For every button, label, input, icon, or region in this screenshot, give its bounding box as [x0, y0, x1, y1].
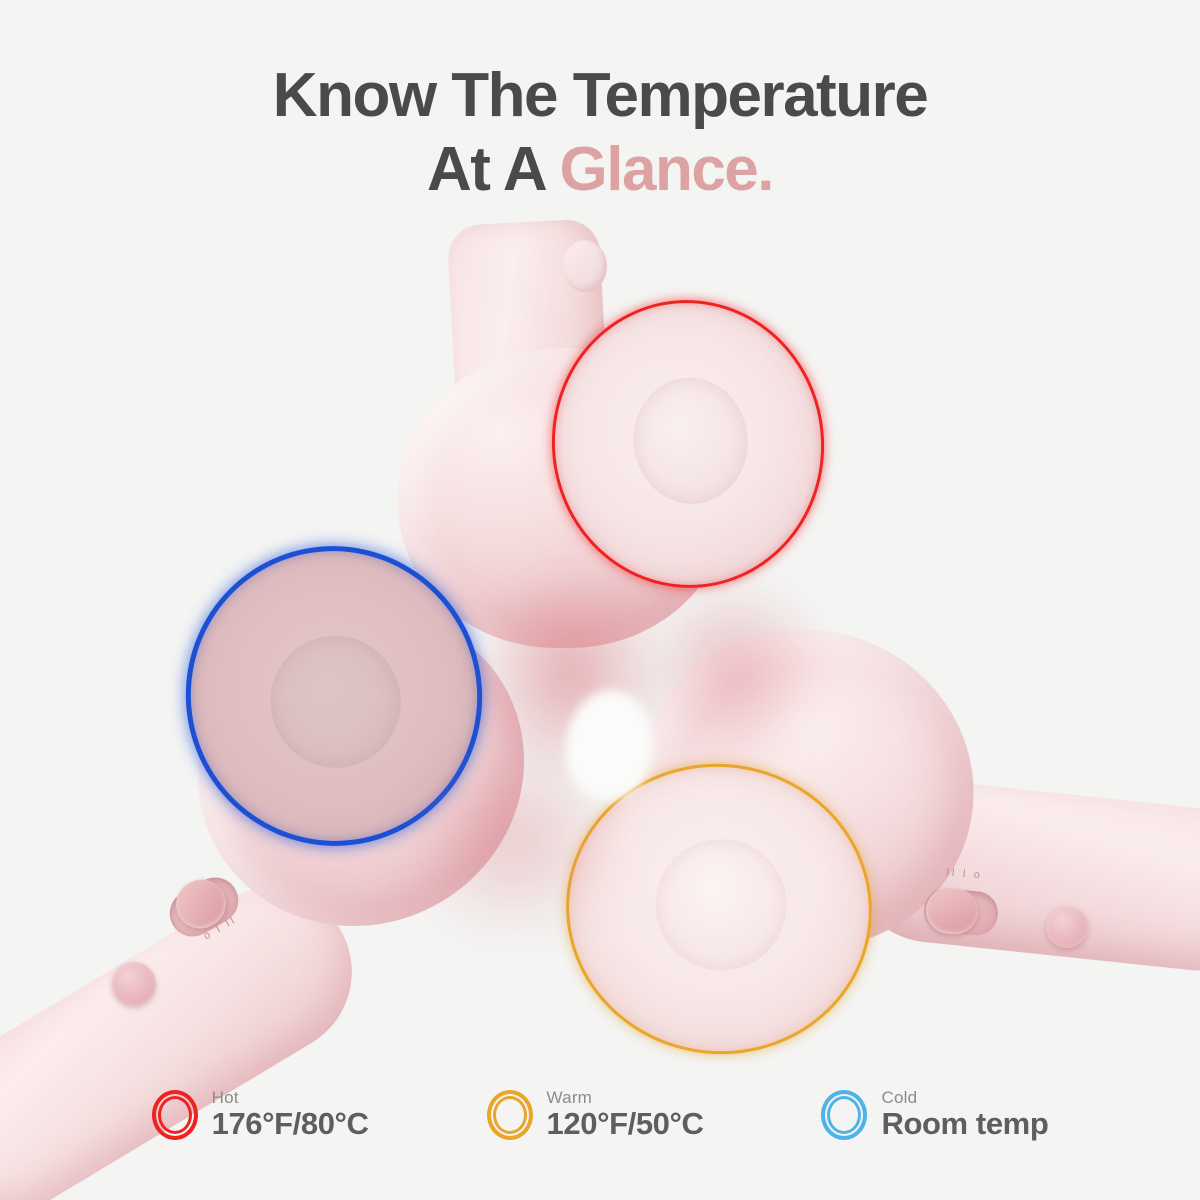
legend-value-warm: 120°F/50°C — [547, 1107, 704, 1142]
hair-dryer-unit-warm: II I o — [0, 0, 1200, 1200]
legend-label-warm: Warm — [547, 1088, 704, 1108]
warm-unit-cool-shot-button[interactable] — [1046, 906, 1088, 948]
legend-value-cold: Room temp — [881, 1107, 1048, 1142]
legend-text-cold: Cold Room temp — [881, 1088, 1048, 1142]
legend-text-hot: Hot 176°F/80°C — [212, 1088, 369, 1142]
warm-ring-icon — [487, 1090, 533, 1140]
legend-label-hot: Hot — [212, 1088, 369, 1108]
product-photo: o I II II I o — [0, 0, 1200, 1075]
legend-value-hot: 176°F/80°C — [212, 1107, 369, 1142]
legend-text-warm: Warm 120°F/50°C — [547, 1088, 704, 1142]
legend-item-warm: Warm 120°F/50°C — [487, 1088, 704, 1142]
cold-ring-icon — [821, 1090, 867, 1140]
legend-label-cold: Cold — [881, 1088, 1048, 1108]
legend-item-cold: Cold Room temp — [821, 1088, 1048, 1142]
legend-item-hot: Hot 176°F/80°C — [152, 1088, 369, 1142]
temperature-legend: Hot 176°F/80°C Warm 120°F/50°C Cold Room… — [0, 1070, 1200, 1160]
hot-ring-icon — [152, 1090, 198, 1140]
product-marketing-image: Know The Temperature At A Glance. o I II — [0, 0, 1200, 1200]
